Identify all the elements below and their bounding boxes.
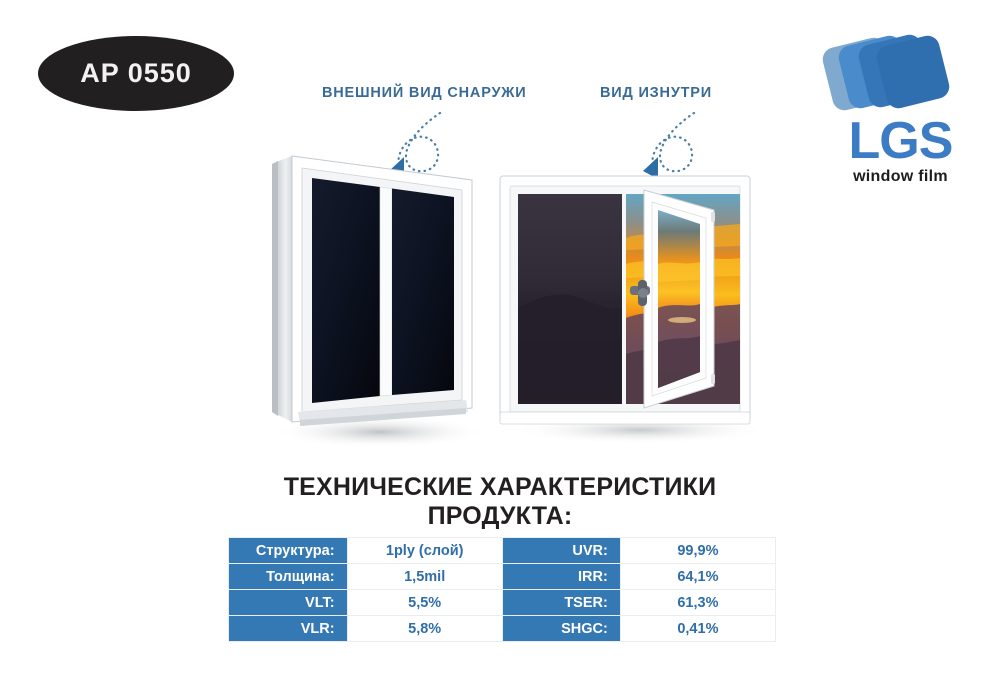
spec-key: IRR: [503, 564, 620, 589]
spec-key: VLT: [229, 590, 347, 615]
spec-value: 1,5mil [348, 564, 502, 589]
spec-value: 5,5% [348, 590, 502, 615]
spec-value: 99,9% [621, 538, 775, 563]
spec-key: SHGC: [503, 616, 620, 641]
logo-sheet-1 [874, 33, 952, 111]
spec-heading: ТЕХНИЧЕСКИЕ ХАРАКТЕРИСТИКИ ПРОДУКТА: [0, 473, 1000, 531]
annotation-exterior-label: ВНЕШНИЙ ВИД СНАРУЖИ [322, 85, 526, 101]
spec-key: UVR: [503, 538, 620, 563]
logo-tagline: window film [823, 168, 978, 186]
spec-value: 64,1% [621, 564, 775, 589]
spec-key: VLR: [229, 616, 347, 641]
window-exterior-image [262, 150, 492, 450]
product-code: AP 0550 [80, 58, 192, 89]
table-row: Толщина: 1,5mil IRR: 64,1% [229, 564, 775, 589]
brand-logo: LGS window film [823, 26, 978, 176]
spec-value: 61,3% [621, 590, 775, 615]
annotation-interior-label: ВИД ИЗНУТРИ [600, 85, 712, 101]
logo-name: LGS [823, 118, 978, 164]
spec-table: Структура: 1ply (слой) UVR: 99,9% Толщин… [228, 537, 776, 642]
spec-heading-line1: ТЕХНИЧЕСКИЕ ХАРАКТЕРИСТИКИ [0, 473, 1000, 502]
spec-value: 5,8% [348, 616, 502, 641]
annotation-interior: ВИД ИЗНУТРИ [600, 85, 712, 101]
spec-key: Толщина: [229, 564, 347, 589]
spec-value: 1ply (слой) [348, 538, 502, 563]
product-code-badge: AP 0550 [38, 36, 234, 111]
window-interior-image [492, 168, 780, 446]
spec-key: Структура: [229, 538, 347, 563]
spec-table-body: Структура: 1ply (слой) UVR: 99,9% Толщин… [229, 538, 775, 641]
logo-film-sheets-icon [823, 26, 978, 122]
spec-heading-line2: ПРОДУКТА: [0, 502, 1000, 531]
table-row: VLT: 5,5% TSER: 61,3% [229, 590, 775, 615]
table-row: VLR: 5,8% SHGC: 0,41% [229, 616, 775, 641]
annotation-exterior: ВНЕШНИЙ ВИД СНАРУЖИ [322, 85, 526, 101]
spec-value: 0,41% [621, 616, 775, 641]
table-row: Структура: 1ply (слой) UVR: 99,9% [229, 538, 775, 563]
spec-key: TSER: [503, 590, 620, 615]
